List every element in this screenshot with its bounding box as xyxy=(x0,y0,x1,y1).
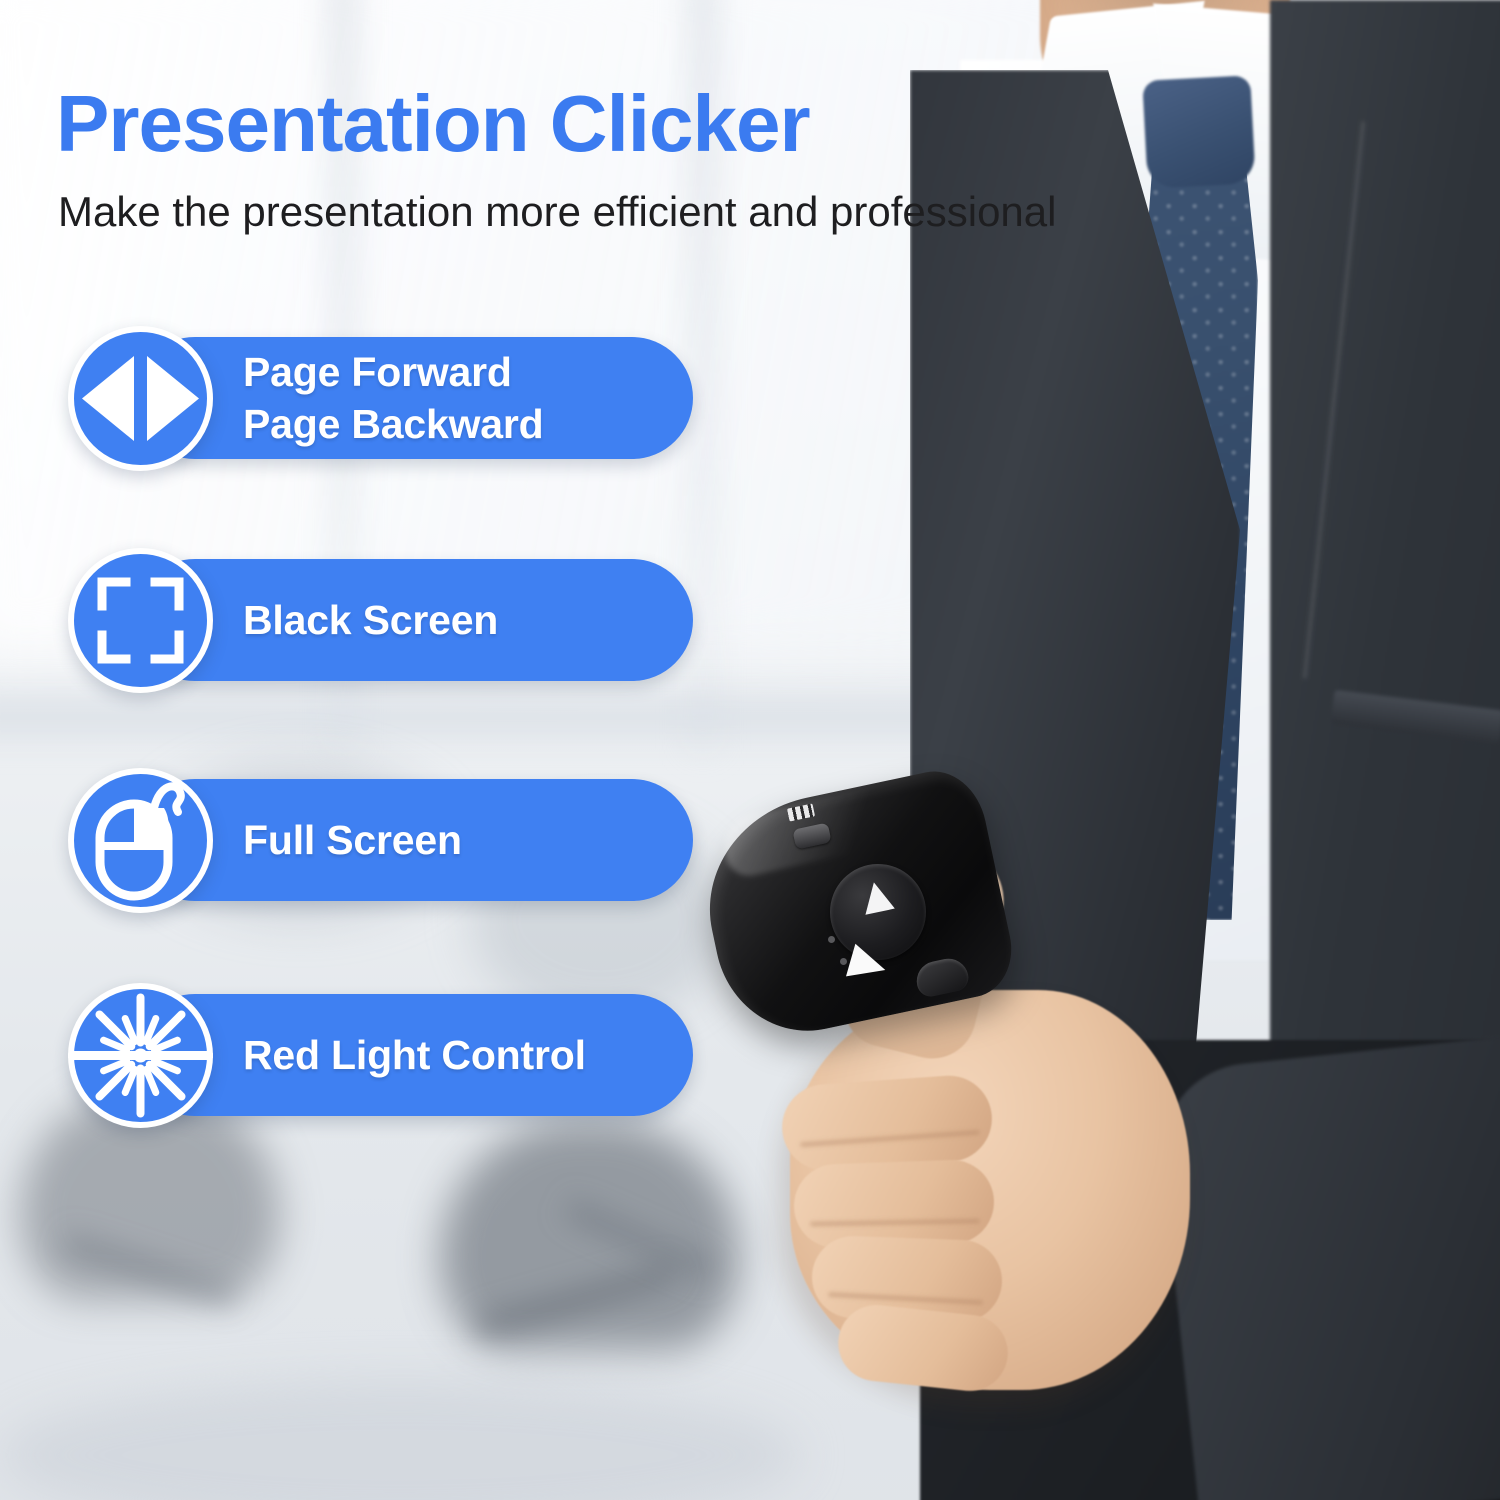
feature-label-group: Page Forward Page Backward xyxy=(243,326,544,471)
feature-label-line1: Black Screen xyxy=(243,595,498,647)
remote-led-dot-1 xyxy=(828,936,835,943)
black-screen-icon xyxy=(68,548,213,693)
feature-item-black-screen[interactable]: Black Screen xyxy=(68,548,693,693)
feature-label-group: Black Screen xyxy=(243,548,498,693)
feature-item-page-navigation[interactable]: Page Forward Page Backward xyxy=(68,326,693,471)
finger-index xyxy=(779,1073,994,1173)
feature-item-full-screen[interactable]: Full Screen xyxy=(68,768,693,913)
page-forward-backward-icon xyxy=(68,326,213,471)
remote-led-dot-2 xyxy=(840,958,847,965)
feature-label-line1: Full Screen xyxy=(243,815,462,867)
feature-item-red-light[interactable]: Red Light Control xyxy=(68,983,693,1128)
red-light-laser-icon xyxy=(68,983,213,1128)
feature-label-group: Full Screen xyxy=(243,768,462,913)
full-screen-mouse-icon xyxy=(68,768,213,913)
hand-holding-clicker xyxy=(760,880,1230,1440)
page-title: Presentation Clicker xyxy=(56,78,810,170)
presentation-clicker-remote xyxy=(710,790,1010,1050)
finger-middle xyxy=(793,1159,996,1250)
feature-label-line2: Page Backward xyxy=(243,399,544,451)
page-subtitle: Make the presentation more efficient and… xyxy=(58,188,1056,236)
product-marketing-image: Presentation Clicker Make the presentati… xyxy=(0,0,1500,1500)
necktie-knot xyxy=(1142,75,1256,189)
feature-label-line1: Page Forward xyxy=(243,347,544,399)
remote-up-arrow-icon xyxy=(859,879,895,915)
feature-label-group: Red Light Control xyxy=(243,983,586,1128)
feature-label-line1: Red Light Control xyxy=(243,1030,586,1082)
